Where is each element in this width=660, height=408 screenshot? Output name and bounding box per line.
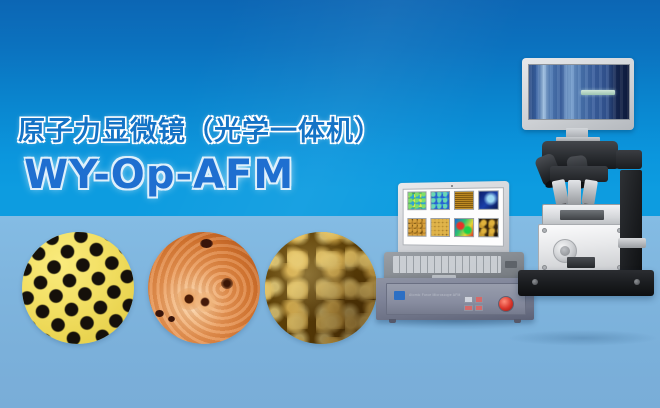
cantilever-view-icon	[581, 90, 615, 95]
base-bolt-left	[532, 279, 538, 285]
scan-image-icon	[454, 217, 474, 236]
controller-brand-text: Atomic Force Microscope AFM	[409, 292, 461, 298]
afm-sample-granular-film	[265, 232, 377, 344]
controller-foot-left	[389, 319, 396, 323]
z-axis-adjust-arm[interactable]	[618, 238, 646, 248]
scan-thumbnail[interactable]	[452, 191, 475, 217]
scanner-sample-slot	[560, 210, 604, 220]
webcam-icon	[451, 184, 453, 186]
afm-scanner-stage	[538, 224, 626, 274]
keypad-button-4[interactable]	[475, 305, 484, 312]
keypad-button-3[interactable]	[464, 305, 473, 312]
stage-screw	[542, 228, 547, 233]
laptop-screen	[403, 187, 504, 247]
product-banner: 原子力显微镜（光学一体机） WY-Op-AFM	[0, 0, 660, 408]
stage-nameplate	[567, 257, 595, 268]
sample-2-pit-3	[168, 316, 175, 322]
sample-2-crater-c	[221, 278, 233, 289]
scan-image-icon	[479, 190, 500, 210]
laptop-lid	[398, 181, 509, 257]
manufacturer-logo-icon	[394, 291, 405, 300]
keypad-button-2[interactable]	[475, 296, 484, 303]
sample-2-pit-1	[200, 239, 213, 248]
camera-port	[616, 150, 642, 169]
scan-thumbnail[interactable]	[452, 217, 475, 243]
optical-afm-microscope	[498, 58, 660, 334]
scan-thumbnail[interactable]	[405, 218, 427, 243]
objective-lens-1	[552, 179, 570, 207]
scan-image-icon	[407, 191, 426, 210]
scan-image-icon	[430, 218, 450, 237]
keyboard[interactable]	[393, 256, 501, 273]
scan-thumbnail[interactable]	[405, 191, 427, 216]
keypad-button-1[interactable]	[464, 296, 473, 303]
controller-keypad[interactable]	[464, 296, 483, 311]
product-title-chinese: 原子力显微镜（光学一体机）	[18, 118, 438, 145]
sample-2-pit-2	[155, 310, 164, 317]
sample-1-pore-pattern	[22, 232, 134, 344]
afm-sample-nanopore-array	[22, 232, 134, 344]
afm-sample-surface-topography	[148, 232, 260, 344]
scan-image-icon	[479, 217, 500, 236]
granite-base	[518, 270, 654, 296]
scan-thumbnail[interactable]	[429, 191, 452, 217]
microscope-monitor	[522, 58, 634, 130]
scan-image-icon	[454, 191, 474, 210]
scan-thumbnail[interactable]	[429, 218, 452, 243]
z-axis-column	[620, 170, 642, 272]
afm-sample-image-row	[0, 232, 400, 352]
base-bolt-right	[634, 279, 640, 285]
monitor-screen	[528, 64, 630, 120]
scan-image-icon	[407, 218, 426, 237]
scan-image-icon	[430, 191, 450, 210]
sample-2-crater-b	[194, 292, 216, 312]
sample-3-shading	[265, 232, 377, 344]
sample-2-terrace-waves	[148, 232, 260, 344]
headline-block: 原子力显微镜（光学一体机） WY-Op-AFM	[18, 118, 438, 195]
objective-lens-3	[581, 179, 598, 207]
